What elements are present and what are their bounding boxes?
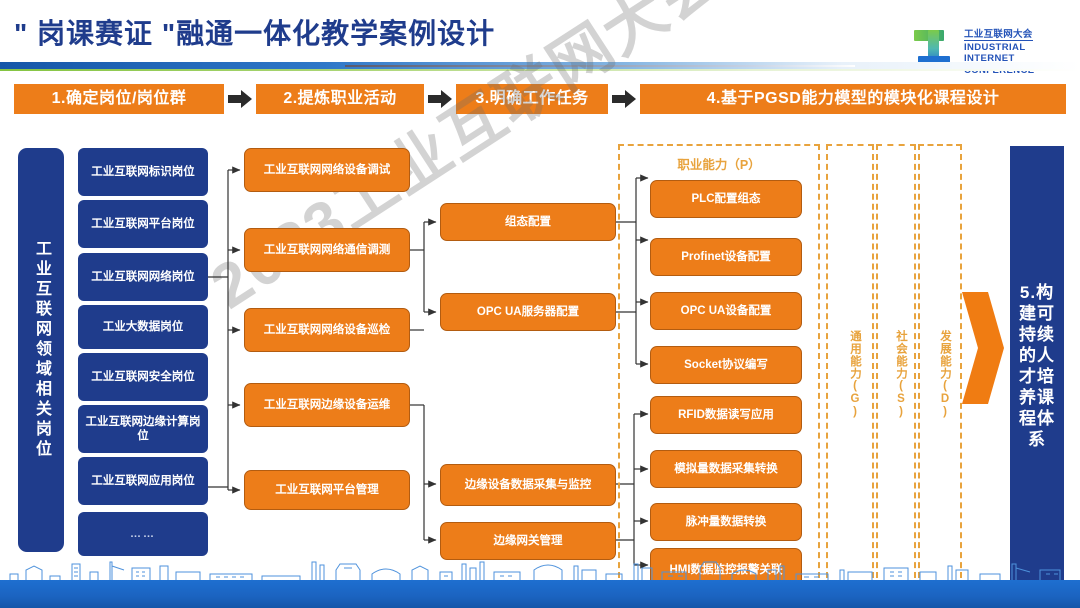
- capability-group-g-label: 通用能力(G): [838, 330, 862, 419]
- activity-box-3[interactable]: 工业互联网网络设备巡检: [244, 308, 410, 352]
- position-box-5[interactable]: 工业互联网安全岗位: [78, 353, 208, 401]
- outcome-band-label: 5.构建可持续的人才培养课程体系: [1016, 282, 1058, 450]
- position-box-2[interactable]: 工业互联网平台岗位: [78, 200, 208, 248]
- skyline-graphic-icon: [0, 556, 1080, 582]
- task-box-1[interactable]: 组态配置: [440, 203, 616, 241]
- ability-box-6[interactable]: 模拟量数据采集转换: [650, 450, 802, 488]
- position-box-3[interactable]: 工业互联网网络岗位: [78, 253, 208, 301]
- capability-group-p-title: 职业能力（P）: [618, 154, 820, 173]
- position-box-7[interactable]: 工业互联网应用岗位: [78, 457, 208, 505]
- activity-box-2[interactable]: 工业互联网网络通信调测: [244, 228, 410, 272]
- ability-box-5[interactable]: RFID数据读写应用: [650, 396, 802, 434]
- domain-band-label: 工业互联网领域相关岗位: [18, 148, 64, 552]
- slide-canvas: " 岗课赛证 "融通一体化教学案例设计 工业互联网大会 INDUSTRIAL I…: [0, 0, 1080, 608]
- task-box-2[interactable]: OPC UA服务器配置: [440, 293, 616, 331]
- task-box-3[interactable]: 边缘设备数据采集与监控: [440, 464, 616, 506]
- ability-box-1[interactable]: PLC配置组态: [650, 180, 802, 218]
- capability-group-d-label: 发展能力(D): [928, 330, 952, 419]
- activity-box-4[interactable]: 工业互联网边缘设备运维: [244, 383, 410, 427]
- position-box-more[interactable]: ……: [78, 512, 208, 556]
- activity-box-5[interactable]: 工业互联网平台管理: [244, 470, 410, 510]
- ability-box-3[interactable]: OPC UA设备配置: [650, 292, 802, 330]
- position-box-4[interactable]: 工业大数据岗位: [78, 305, 208, 349]
- task-box-4[interactable]: 边缘网关管理: [440, 522, 616, 560]
- position-box-1[interactable]: 工业互联网标识岗位: [78, 148, 208, 196]
- forward-chevron-icon: [962, 288, 1004, 408]
- position-box-6[interactable]: 工业互联网边缘计算岗位: [78, 405, 208, 453]
- activity-box-1[interactable]: 工业互联网网络设备调试: [244, 148, 410, 192]
- ability-box-7[interactable]: 脉冲量数据转换: [650, 503, 802, 541]
- ability-box-2[interactable]: Profinet设备配置: [650, 238, 802, 276]
- footer-skyline: [0, 556, 1080, 608]
- outcome-band: 5.构建可持续的人才培养课程体系: [1010, 146, 1064, 586]
- ability-box-4[interactable]: Socket协议编写: [650, 346, 802, 384]
- footer-band: [0, 580, 1080, 608]
- capability-group-s-label: 社会能力(S): [884, 330, 908, 419]
